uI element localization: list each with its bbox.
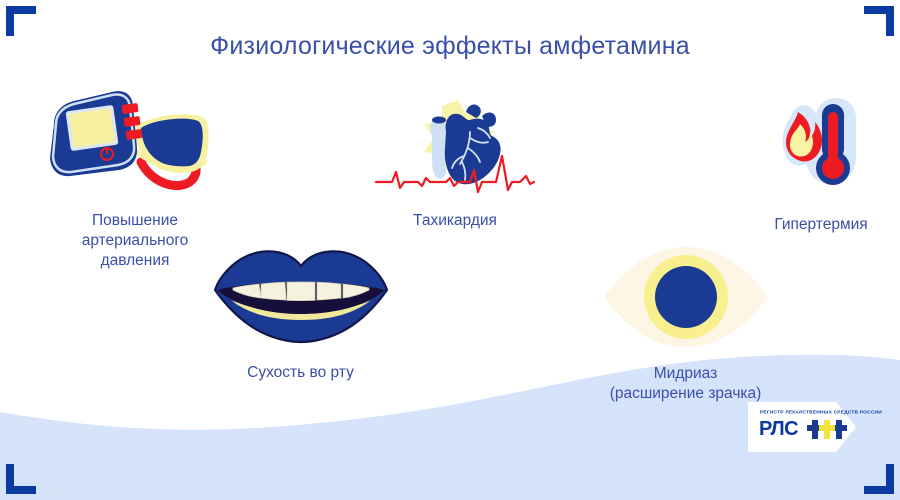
- slide-title: Физиологические эффекты амфетамина: [0, 32, 900, 61]
- lips-icon: [198, 248, 403, 353]
- logo-cross-mark: [806, 418, 848, 442]
- effect-item-dry-mouth: Сухость во рту: [198, 248, 403, 383]
- slide-canvas: Физиологические эффекты амфетамина: [0, 0, 900, 500]
- effect-label: Тахикардия: [360, 211, 550, 231]
- corner-bracket-bottom-right: [864, 464, 894, 494]
- blood-pressure-monitor-icon: [20, 88, 250, 205]
- effect-item-tachycardia: Тахикардия: [360, 92, 550, 231]
- effect-label: Гипертермия: [742, 215, 900, 235]
- effect-item-hyperthermia: Гипертермия: [742, 88, 900, 235]
- effect-item-blood-pressure: Повышение артериального давления: [20, 88, 250, 271]
- effect-item-mydriasis: Мидриаз (расширение зрачка): [578, 243, 793, 404]
- effect-label: Сухость во рту: [198, 363, 403, 383]
- eye-icon: [578, 243, 793, 356]
- effect-label: Мидриаз (расширение зрачка): [578, 364, 793, 404]
- rls-logo[interactable]: РЕГИСТР ЛЕКАРСТВЕННЫХ СРЕДСТВ РОССИИ РЛС: [748, 402, 856, 452]
- heart-ecg-icon: [360, 92, 550, 203]
- logo-wordmark: РЛС: [759, 418, 798, 441]
- thermometer-flame-icon: [742, 88, 900, 205]
- corner-bracket-bottom-left: [6, 464, 36, 494]
- logo-tagline: РЕГИСТР ЛЕКАРСТВЕННЫХ СРЕДСТВ РОССИИ: [760, 409, 878, 415]
